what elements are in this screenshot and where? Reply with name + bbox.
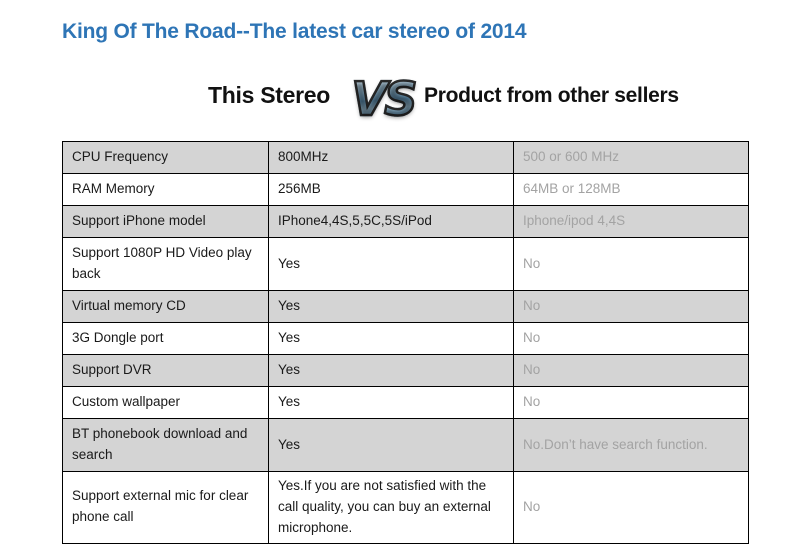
vs-logo-text: VS (352, 76, 415, 122)
cell-feature: Custom wallpaper (63, 387, 269, 419)
table-row: BT phonebook download and searchYesNo.Do… (63, 419, 749, 472)
cell-ours: Yes.If you are not satisfied with the ca… (269, 472, 514, 544)
cell-ours: Yes (269, 419, 514, 472)
cell-feature: Support 1080P HD Video play back (63, 238, 269, 291)
cell-theirs: Iphone/ipod 4,4S (514, 206, 749, 238)
comparison-header: This Stereo VS Product from other seller… (0, 70, 800, 128)
other-sellers-label: Product from other sellers (424, 84, 679, 108)
table-row: Virtual memory CDYesNo (63, 291, 749, 323)
cell-feature: Virtual memory CD (63, 291, 269, 323)
cell-theirs: No (514, 355, 749, 387)
cell-feature: Support iPhone model (63, 206, 269, 238)
cell-feature: Support DVR (63, 355, 269, 387)
cell-theirs: No (514, 291, 749, 323)
table-row: Support DVRYesNo (63, 355, 749, 387)
table-row: CPU Frequency800MHz500 or 600 MHz (63, 142, 749, 174)
cell-feature: CPU Frequency (63, 142, 269, 174)
cell-theirs: No (514, 323, 749, 355)
comparison-table: CPU Frequency800MHz500 or 600 MHzRAM Mem… (62, 141, 749, 544)
vs-logo-icon: VS (341, 66, 425, 132)
cell-ours: 800MHz (269, 142, 514, 174)
table-row: Custom wallpaperYesNo (63, 387, 749, 419)
table-row: Support iPhone modelIPhone4,4S,5,5C,5S/i… (63, 206, 749, 238)
cell-ours: Yes (269, 238, 514, 291)
cell-feature: RAM Memory (63, 174, 269, 206)
cell-theirs: 64MB or 128MB (514, 174, 749, 206)
cell-ours: Yes (269, 323, 514, 355)
table-row: Support 1080P HD Video play backYesNo (63, 238, 749, 291)
cell-theirs: No (514, 387, 749, 419)
cell-ours: Yes (269, 291, 514, 323)
cell-theirs: No (514, 238, 749, 291)
cell-theirs: 500 or 600 MHz (514, 142, 749, 174)
cell-feature: BT phonebook download and search (63, 419, 269, 472)
cell-ours: Yes (269, 355, 514, 387)
this-stereo-label: This Stereo (0, 82, 330, 109)
page-title: King Of The Road--The latest car stereo … (62, 20, 526, 44)
table-row: RAM Memory256MB64MB or 128MB (63, 174, 749, 206)
cell-theirs: No (514, 472, 749, 544)
table-row: 3G Dongle portYesNo (63, 323, 749, 355)
cell-ours: 256MB (269, 174, 514, 206)
cell-theirs: No.Don’t have search function. (514, 419, 749, 472)
cell-ours: IPhone4,4S,5,5C,5S/iPod (269, 206, 514, 238)
cell-ours: Yes (269, 387, 514, 419)
comparison-table-body: CPU Frequency800MHz500 or 600 MHzRAM Mem… (63, 142, 749, 544)
table-row: Support external mic for clear phone cal… (63, 472, 749, 544)
cell-feature: Support external mic for clear phone cal… (63, 472, 269, 544)
cell-feature: 3G Dongle port (63, 323, 269, 355)
